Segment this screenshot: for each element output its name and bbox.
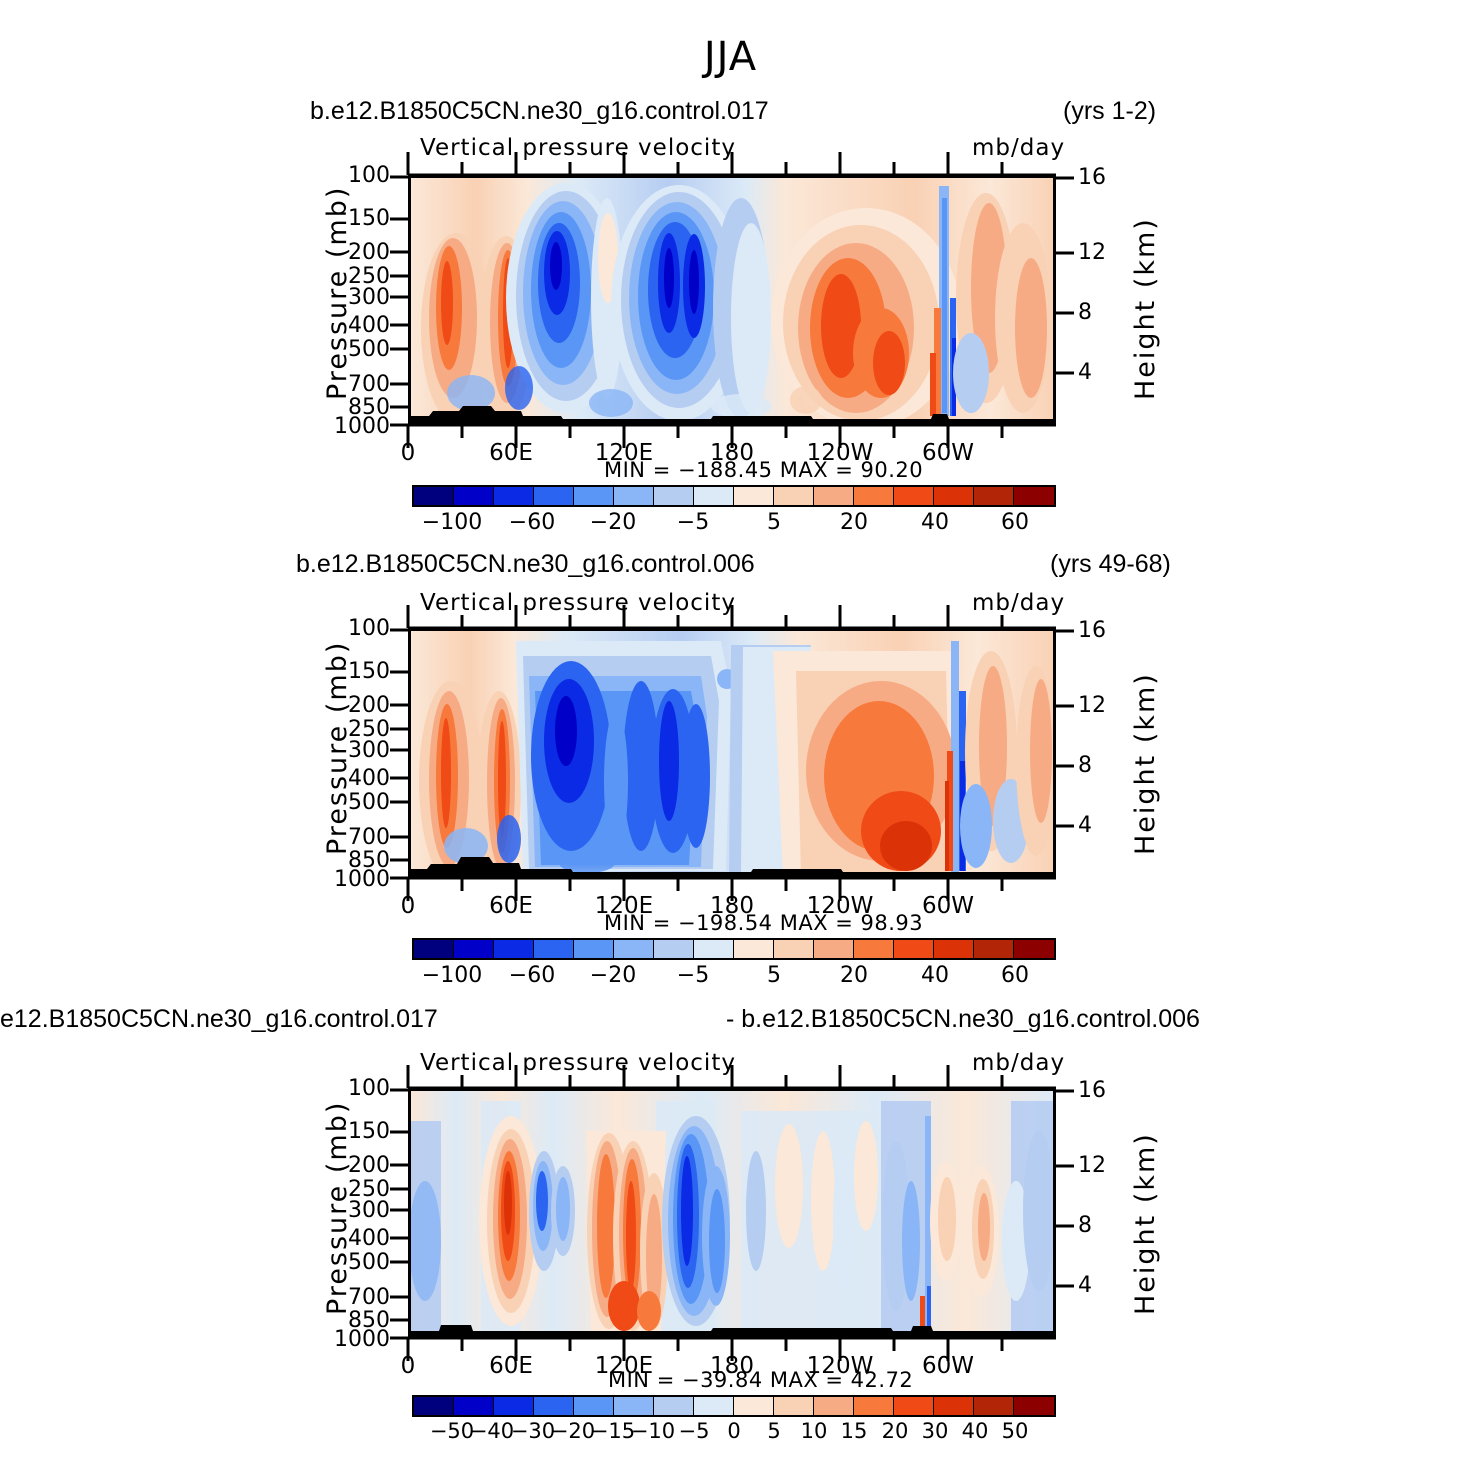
panel-3-tick-marks (0, 905, 1461, 1459)
panel-3: e12.B1850C5CN.ne30_g16.control.017 - b.e… (0, 905, 1461, 1459)
panel-2: b.e12.B1850C5CN.ne30_g16.control.006 (yr… (0, 450, 1461, 980)
panel-2-tick-marks (0, 450, 1461, 980)
